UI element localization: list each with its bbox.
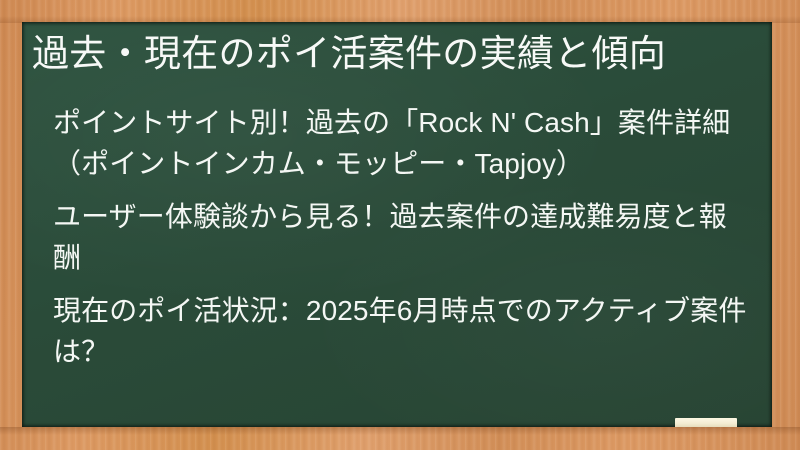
page-title: 過去・現在のポイ活案件の実績と傾向 (32, 28, 762, 80)
list-item: ユーザー体験談から見る！過去案件の達成難易度と報酬 (53, 196, 753, 278)
chalk-stick-icon (675, 418, 737, 427)
blackboard-slide: 過去・現在のポイ活案件の実績と傾向 ポイントサイト別！過去の「Rock N' C… (0, 0, 800, 450)
topic-list: ポイントサイト別！過去の「Rock N' Cash」案件詳細（ポイントインカム・… (53, 102, 753, 372)
list-item: ポイントサイト別！過去の「Rock N' Cash」案件詳細（ポイントインカム・… (53, 102, 753, 184)
chalkboard: 過去・現在のポイ活案件の実績と傾向 ポイントサイト別！過去の「Rock N' C… (22, 22, 772, 427)
list-item: 現在のポイ活状況：2025年6月時点でのアクティブ案件は？ (53, 290, 753, 372)
